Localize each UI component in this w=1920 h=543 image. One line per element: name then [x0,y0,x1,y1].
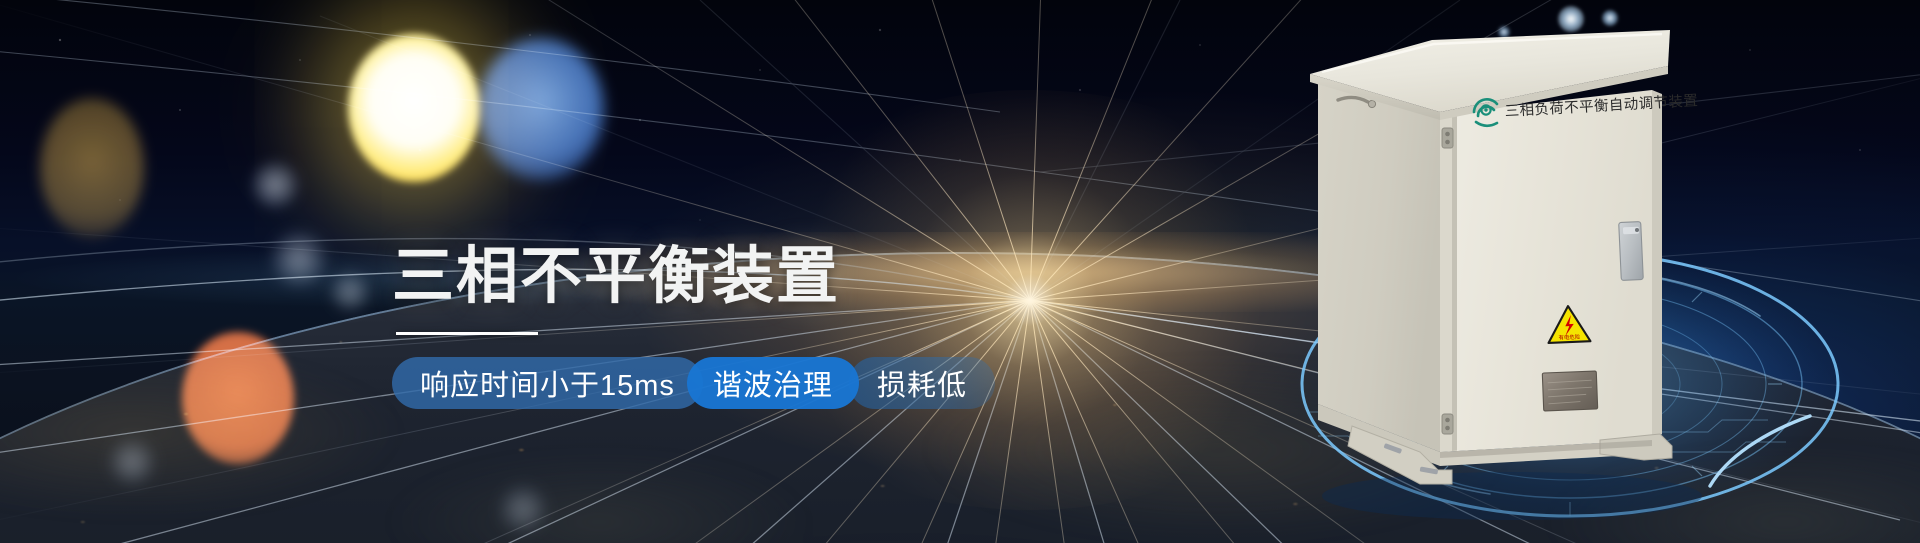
headline-divider [396,332,538,335]
feature-tag-harmonic-control[interactable]: 谐波治理 [687,357,859,409]
feature-tag-list: 响应时间小于15ms 谐波治理 损耗低 [370,357,1132,409]
banner-copy: 三相不平衡装置 响应时间小于15ms 谐波治理 损耗低 [392,246,1132,409]
hero-banner: 三相负荷不平衡自动调节装置 有电危险 [0,0,1920,543]
banner-headline: 三相不平衡装置 [392,246,1132,308]
feature-tag-low-loss[interactable]: 损耗低 [849,357,995,409]
feature-tag-response-time[interactable]: 响应时间小于15ms [392,357,703,409]
